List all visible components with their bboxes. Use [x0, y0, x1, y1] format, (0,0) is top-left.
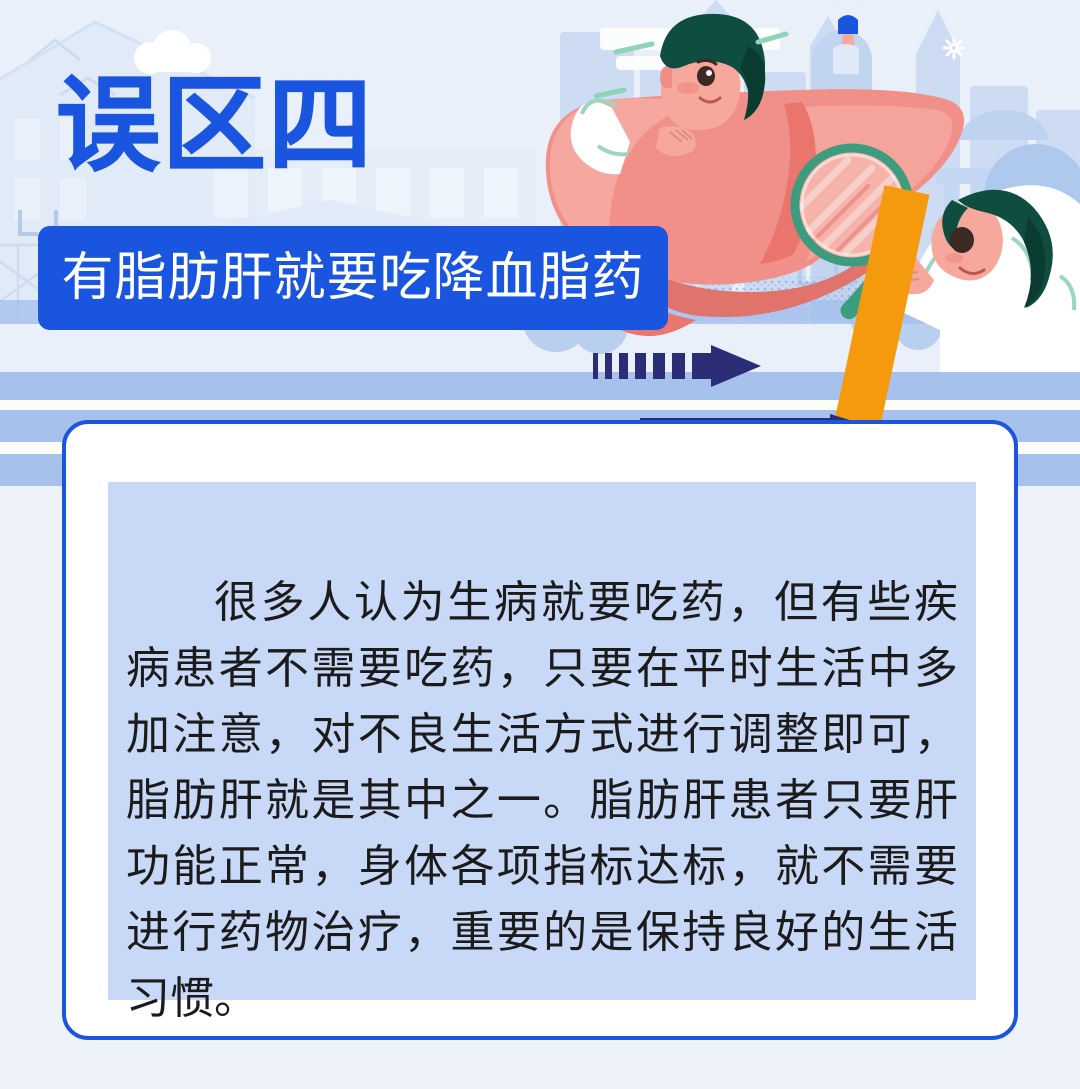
thick-arrow-right-icon [593, 345, 763, 389]
poster-root: 误区四 有脂肪肝就要吃降血脂药 很多人认为生病就要吃药，但有些疾病患者不需要吃药… [0, 0, 1080, 1089]
content-panel: 很多人认为生病就要吃药，但有些疾病患者不需要吃药，只要在平时生活中多加注意，对不… [108, 482, 976, 1000]
page-title: 误区四 [56, 74, 374, 178]
content-card: 很多人认为生病就要吃药，但有些疾病患者不需要吃药，只要在平时生活中多加注意，对不… [62, 420, 1018, 1040]
subtitle-text: 有脂肪肝就要吃降血脂药 [61, 252, 644, 304]
divider-gap-1 [0, 400, 1080, 410]
body-paragraph: 很多人认为生病就要吃药，但有些疾病患者不需要吃药，只要在平时生活中多加注意，对不… [126, 570, 958, 1032]
subtitle-banner: 有脂肪肝就要吃降血脂药 [38, 226, 668, 330]
divider-band-top [0, 372, 1080, 400]
